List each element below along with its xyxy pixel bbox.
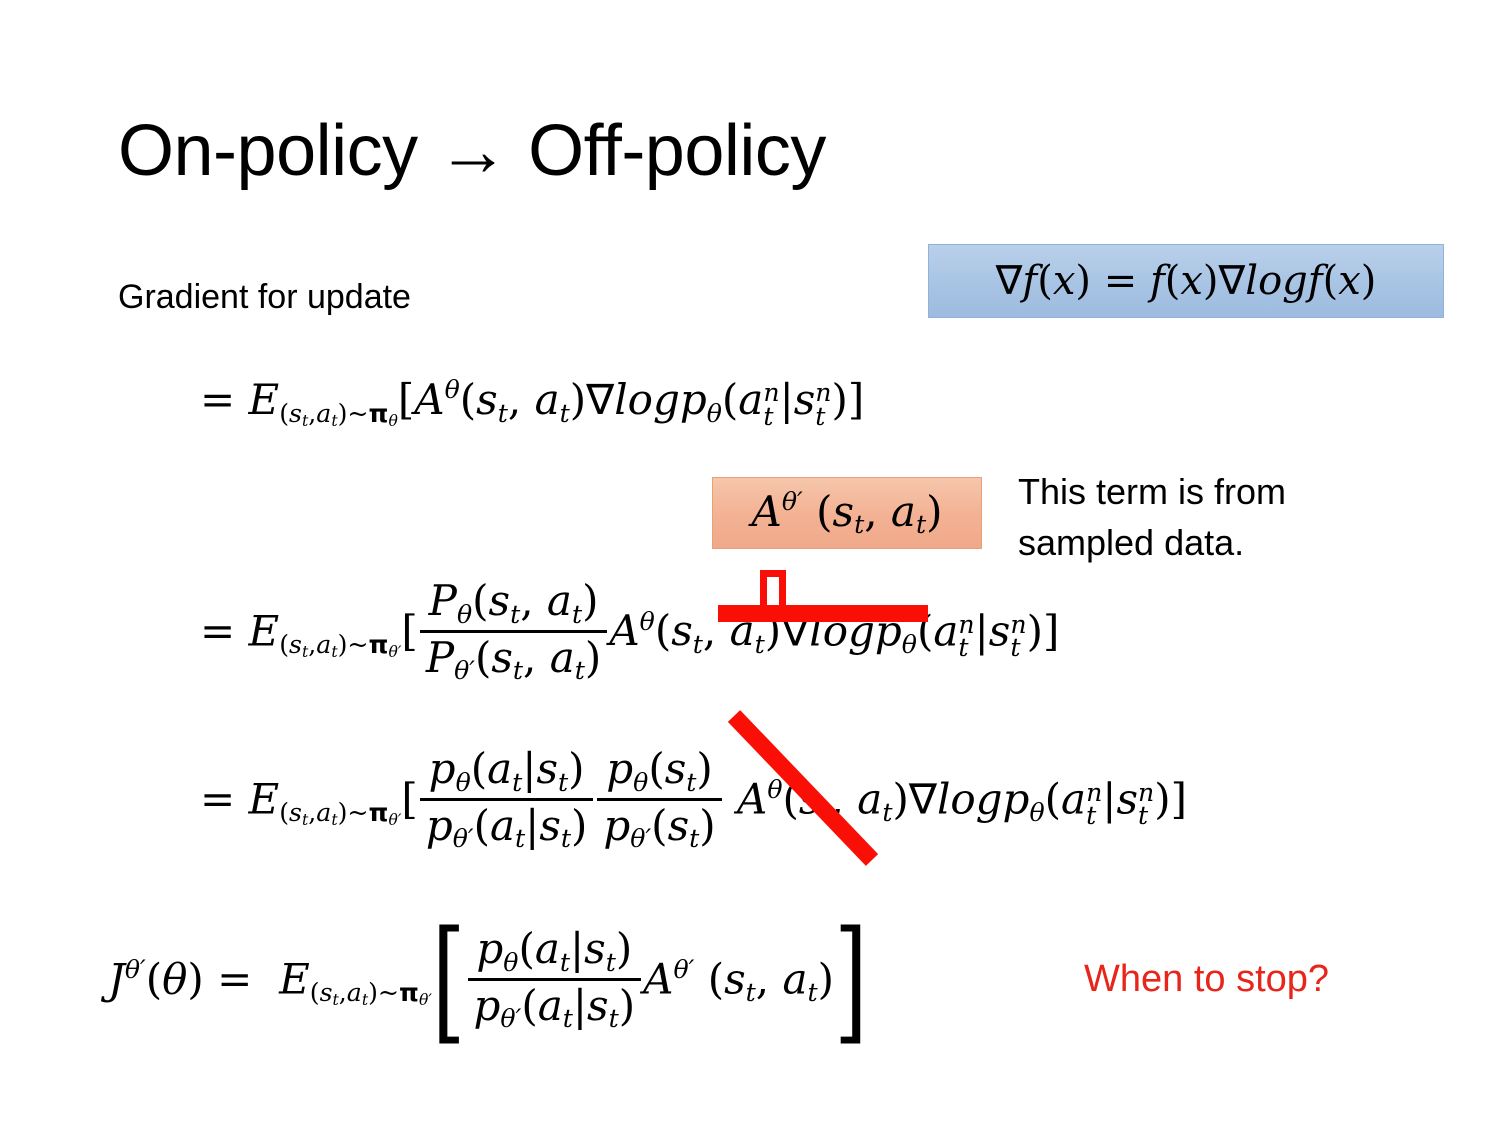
identity-formula: ∇f(x) = f(x)∇logf(x) [996, 258, 1377, 304]
red-strikethrough-annotation [718, 605, 928, 622]
identity-formula-box: ∇f(x) = f(x)∇logf(x) [928, 244, 1444, 318]
equation-line-3: = E(st,at)~πθ′[pθ(at|st)pθ′(at|st)pθ(st)… [200, 748, 1187, 857]
equation-line-2: = E(st,at)~πθ′[Pθ(st, at)Pθ′(st, at)Aθ(s… [200, 580, 1059, 689]
action-probability-ratio-fraction: pθ(at|st)pθ′(at|st) [420, 745, 594, 854]
slide-canvas: On-policy → Off-policy Gradient for upda… [0, 0, 1500, 1125]
red-box-outline-annotation [760, 570, 786, 608]
page-title: On-policy → Off-policy [118, 115, 826, 187]
objective-probability-ratio-fraction: pθ(at|st)pθ′(at|st) [468, 925, 642, 1034]
gradient-for-update-label: Gradient for update [118, 278, 411, 317]
nabla-icon: ∇ [996, 258, 1023, 304]
sampled-data-note-line2: sampled data. [1018, 517, 1418, 568]
equation-line-1: = E(st,at)~πθ[Aθ(st, at)∇logpθ(ant|snt)] [200, 375, 864, 430]
nabla-icon: ∇ [1219, 258, 1246, 304]
sampled-data-note-line1: This term is from [1018, 466, 1418, 517]
equation-line-4: Jθ′(θ) = E(st,at)~πθ′[pθ(at|st)pθ′(at|st… [108, 928, 868, 1037]
struck-state-probability-ratio-fraction: pθ(st)pθ′(st) [597, 745, 721, 854]
advantage-term-formula: Aθ′ (st, at) [752, 487, 943, 540]
advantage-term-box: Aθ′ (st, at) [712, 477, 982, 549]
when-to-stop-note: When to stop? [1084, 958, 1329, 1001]
sampled-data-note: This term is from sampled data. [1018, 466, 1418, 568]
probability-ratio-fraction: Pθ(st, at)Pθ′(st, at) [420, 577, 608, 686]
